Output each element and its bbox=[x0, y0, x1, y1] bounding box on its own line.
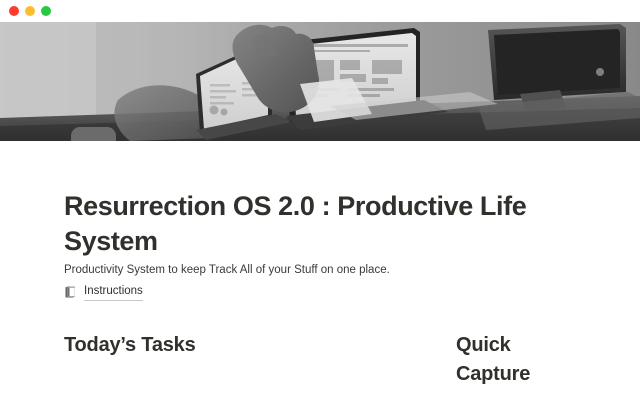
window-titlebar bbox=[0, 0, 640, 22]
column-quick-capture: Quick Capture bbox=[456, 331, 576, 389]
page-title[interactable]: Resurrection OS 2.0 : Productive Life Sy… bbox=[64, 189, 534, 259]
column-todays-tasks: Today’s Tasks bbox=[64, 331, 434, 360]
instructions-label: Instructions bbox=[84, 284, 143, 301]
app-window: Resurrection OS 2.0 : Productive Life Sy… bbox=[0, 0, 640, 400]
page-content: Resurrection OS 2.0 : Productive Life Sy… bbox=[0, 141, 640, 400]
book-page-icon bbox=[64, 286, 78, 300]
maximize-window-icon[interactable] bbox=[41, 6, 51, 16]
todays-tasks-heading[interactable]: Today’s Tasks bbox=[64, 331, 434, 360]
page-cover-image[interactable] bbox=[0, 22, 640, 141]
close-window-icon[interactable] bbox=[9, 6, 19, 16]
page-subtitle[interactable]: Productivity System to keep Track All of… bbox=[64, 262, 390, 278]
minimize-window-icon[interactable] bbox=[25, 6, 35, 16]
traffic-light-group bbox=[9, 6, 51, 16]
cover-photo-graphic bbox=[0, 22, 640, 141]
quick-capture-heading[interactable]: Quick Capture bbox=[456, 331, 576, 389]
instructions-link[interactable]: Instructions bbox=[64, 284, 143, 301]
